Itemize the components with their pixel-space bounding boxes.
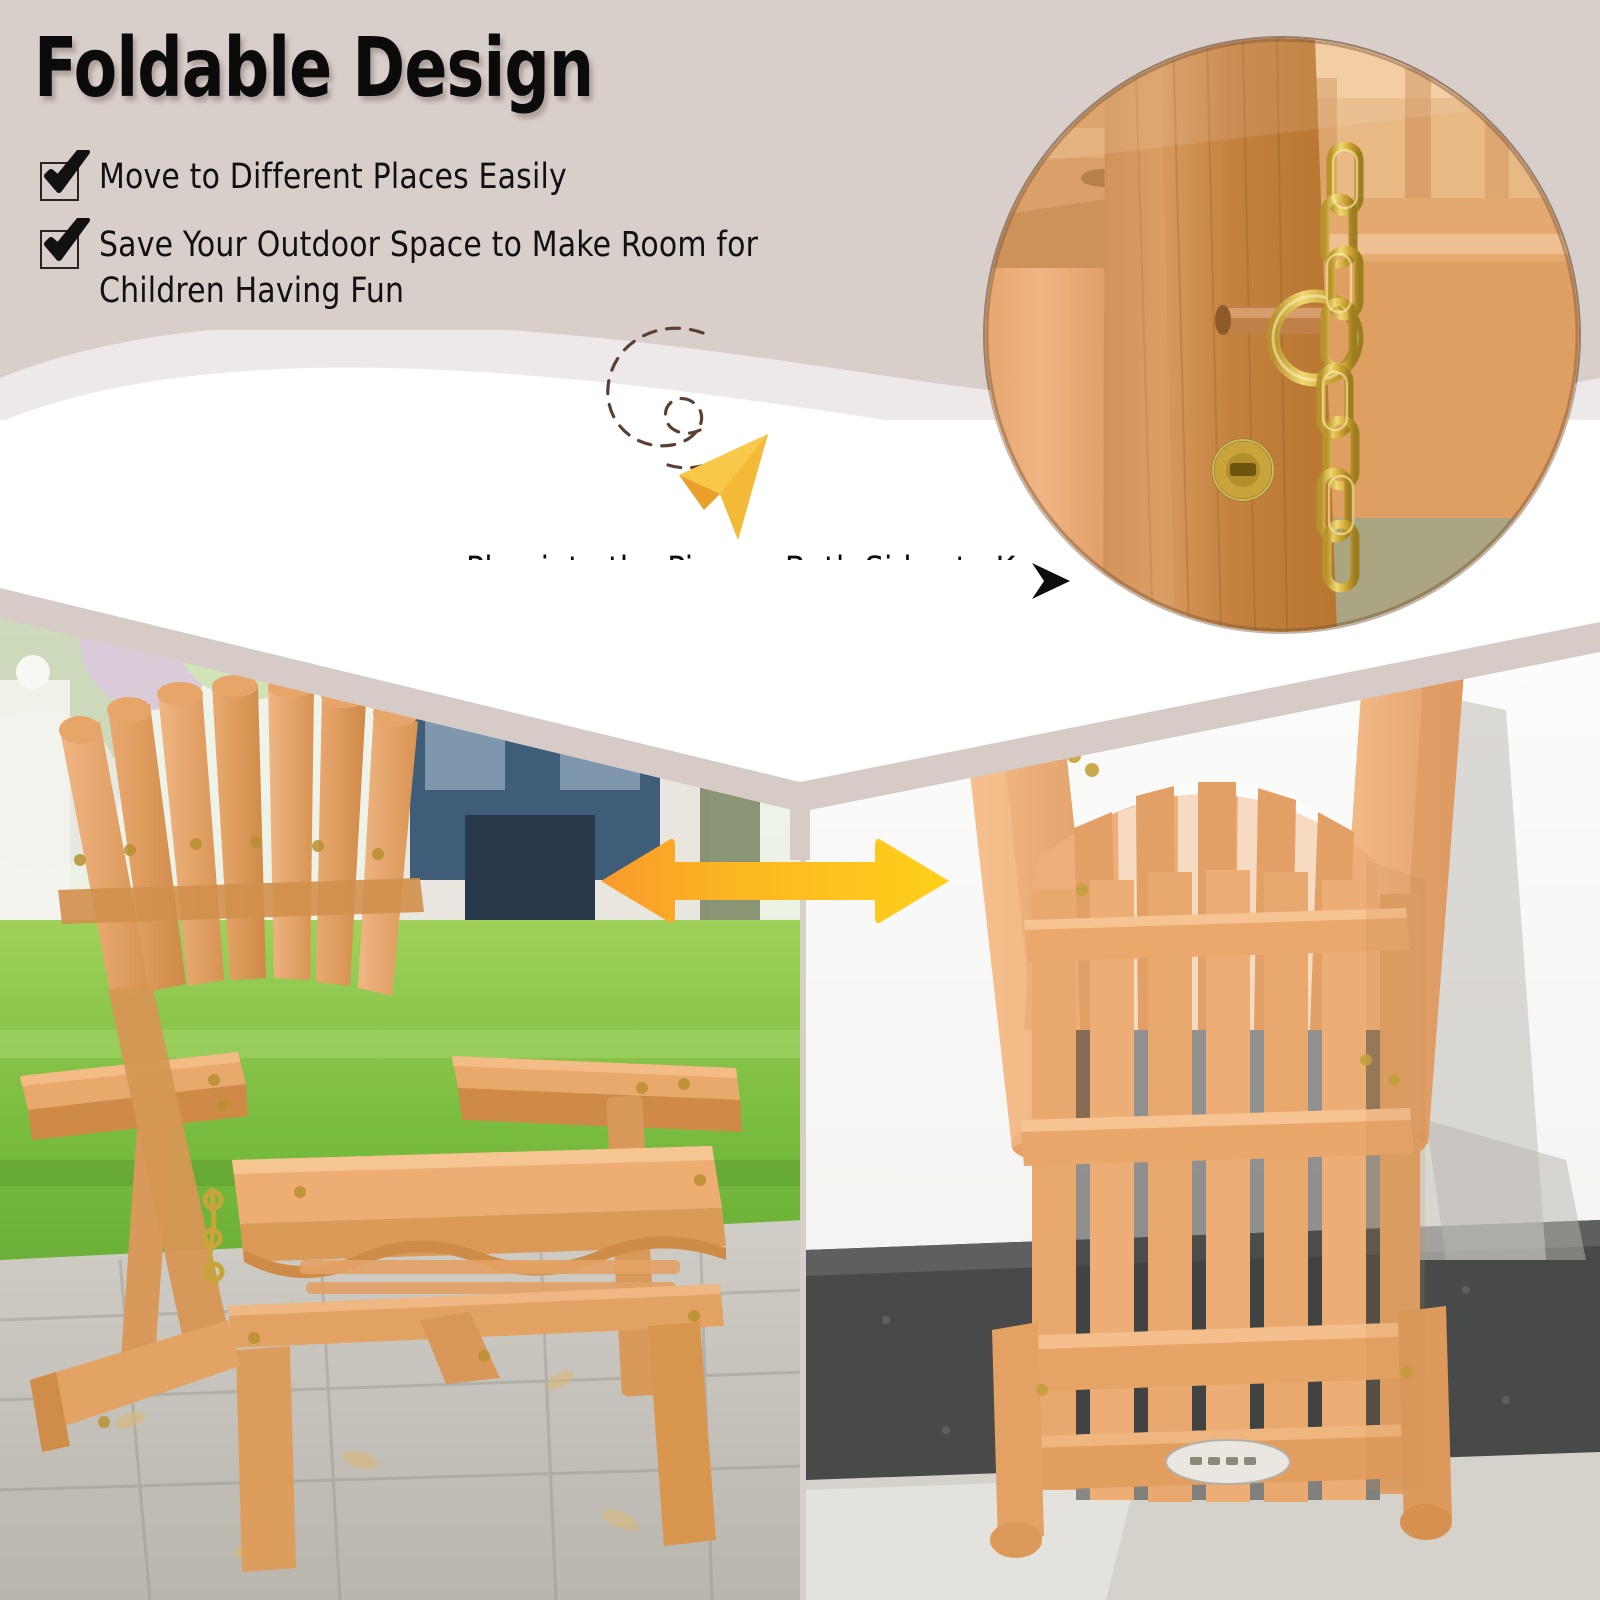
- check-mark-icon: [41, 150, 93, 196]
- paper-plane-icon: [676, 432, 806, 542]
- list-item: Save Your Outdoor Space to Make Room for…: [40, 223, 900, 314]
- caption-line-1: Plug into the Pins on Both Sides to Keep: [283, 548, 1070, 593]
- checkbox-checked-icon: [40, 162, 79, 201]
- list-item: Move to Different Places Easily: [40, 155, 900, 201]
- caption-text: Plug into the Pins on Both Sides to Keep…: [283, 548, 1070, 638]
- feature-bullet-list: Move to Different Places Easily Save You…: [40, 155, 900, 336]
- list-item-label: Move to Different Places Easily: [99, 155, 567, 201]
- caption-line-2: the Chair Stable While Unfolding: [283, 593, 1070, 638]
- infographic-canvas: Foldable Design Move to Different Places…: [0, 0, 1600, 1600]
- page-title: Foldable Design: [34, 28, 593, 110]
- chain-pin-illustration-copy: [985, 38, 1579, 632]
- checkbox-checked-icon: [40, 230, 79, 269]
- triangle-right-icon: [1028, 561, 1072, 601]
- check-mark-icon: [41, 218, 93, 264]
- chain-and-pin-closeup-photo-overlay: [985, 38, 1579, 632]
- double-headed-arrow-icon: [565, 806, 985, 956]
- brand-plate: [1166, 1440, 1290, 1484]
- list-item-label: Save Your Outdoor Space to Make Room for…: [99, 223, 860, 314]
